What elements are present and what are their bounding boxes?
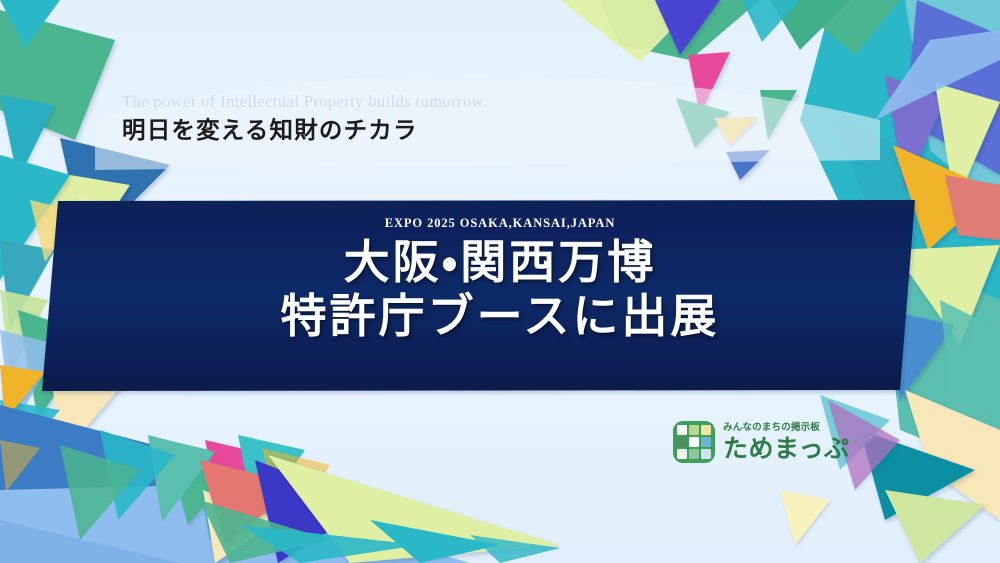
logo-tile xyxy=(689,437,699,447)
logo-tile xyxy=(701,425,711,435)
tagline-english: The power of Intellectual Property build… xyxy=(122,92,487,113)
tamemap-logo-text: みんなのまちの掲示板 ためまっぷ xyxy=(723,423,850,461)
logo-tile xyxy=(689,449,699,459)
navy-banner-shape xyxy=(42,200,915,391)
logo-tile xyxy=(689,425,699,435)
logo-tile xyxy=(677,449,687,459)
tagline-block: The power of Intellectual Property build… xyxy=(122,92,487,146)
logo-tile xyxy=(701,437,711,447)
logo-tile xyxy=(677,425,687,435)
logo-name: ためまっぷ xyxy=(723,436,850,461)
logo-tile xyxy=(701,449,711,459)
geometric-background-art xyxy=(0,0,1000,563)
logo-tile xyxy=(677,437,687,447)
poster-canvas: The power of Intellectual Property build… xyxy=(0,0,1000,563)
tagline-japanese: 明日を変える知財のチカラ xyxy=(122,115,487,147)
logo-tagline: みんなのまちの掲示板 xyxy=(723,423,850,433)
tamemap-logo[interactable]: みんなのまちの掲示板 ためまっぷ xyxy=(673,421,850,463)
logo-tile-grid xyxy=(677,425,711,459)
tamemap-logo-icon xyxy=(673,421,715,463)
